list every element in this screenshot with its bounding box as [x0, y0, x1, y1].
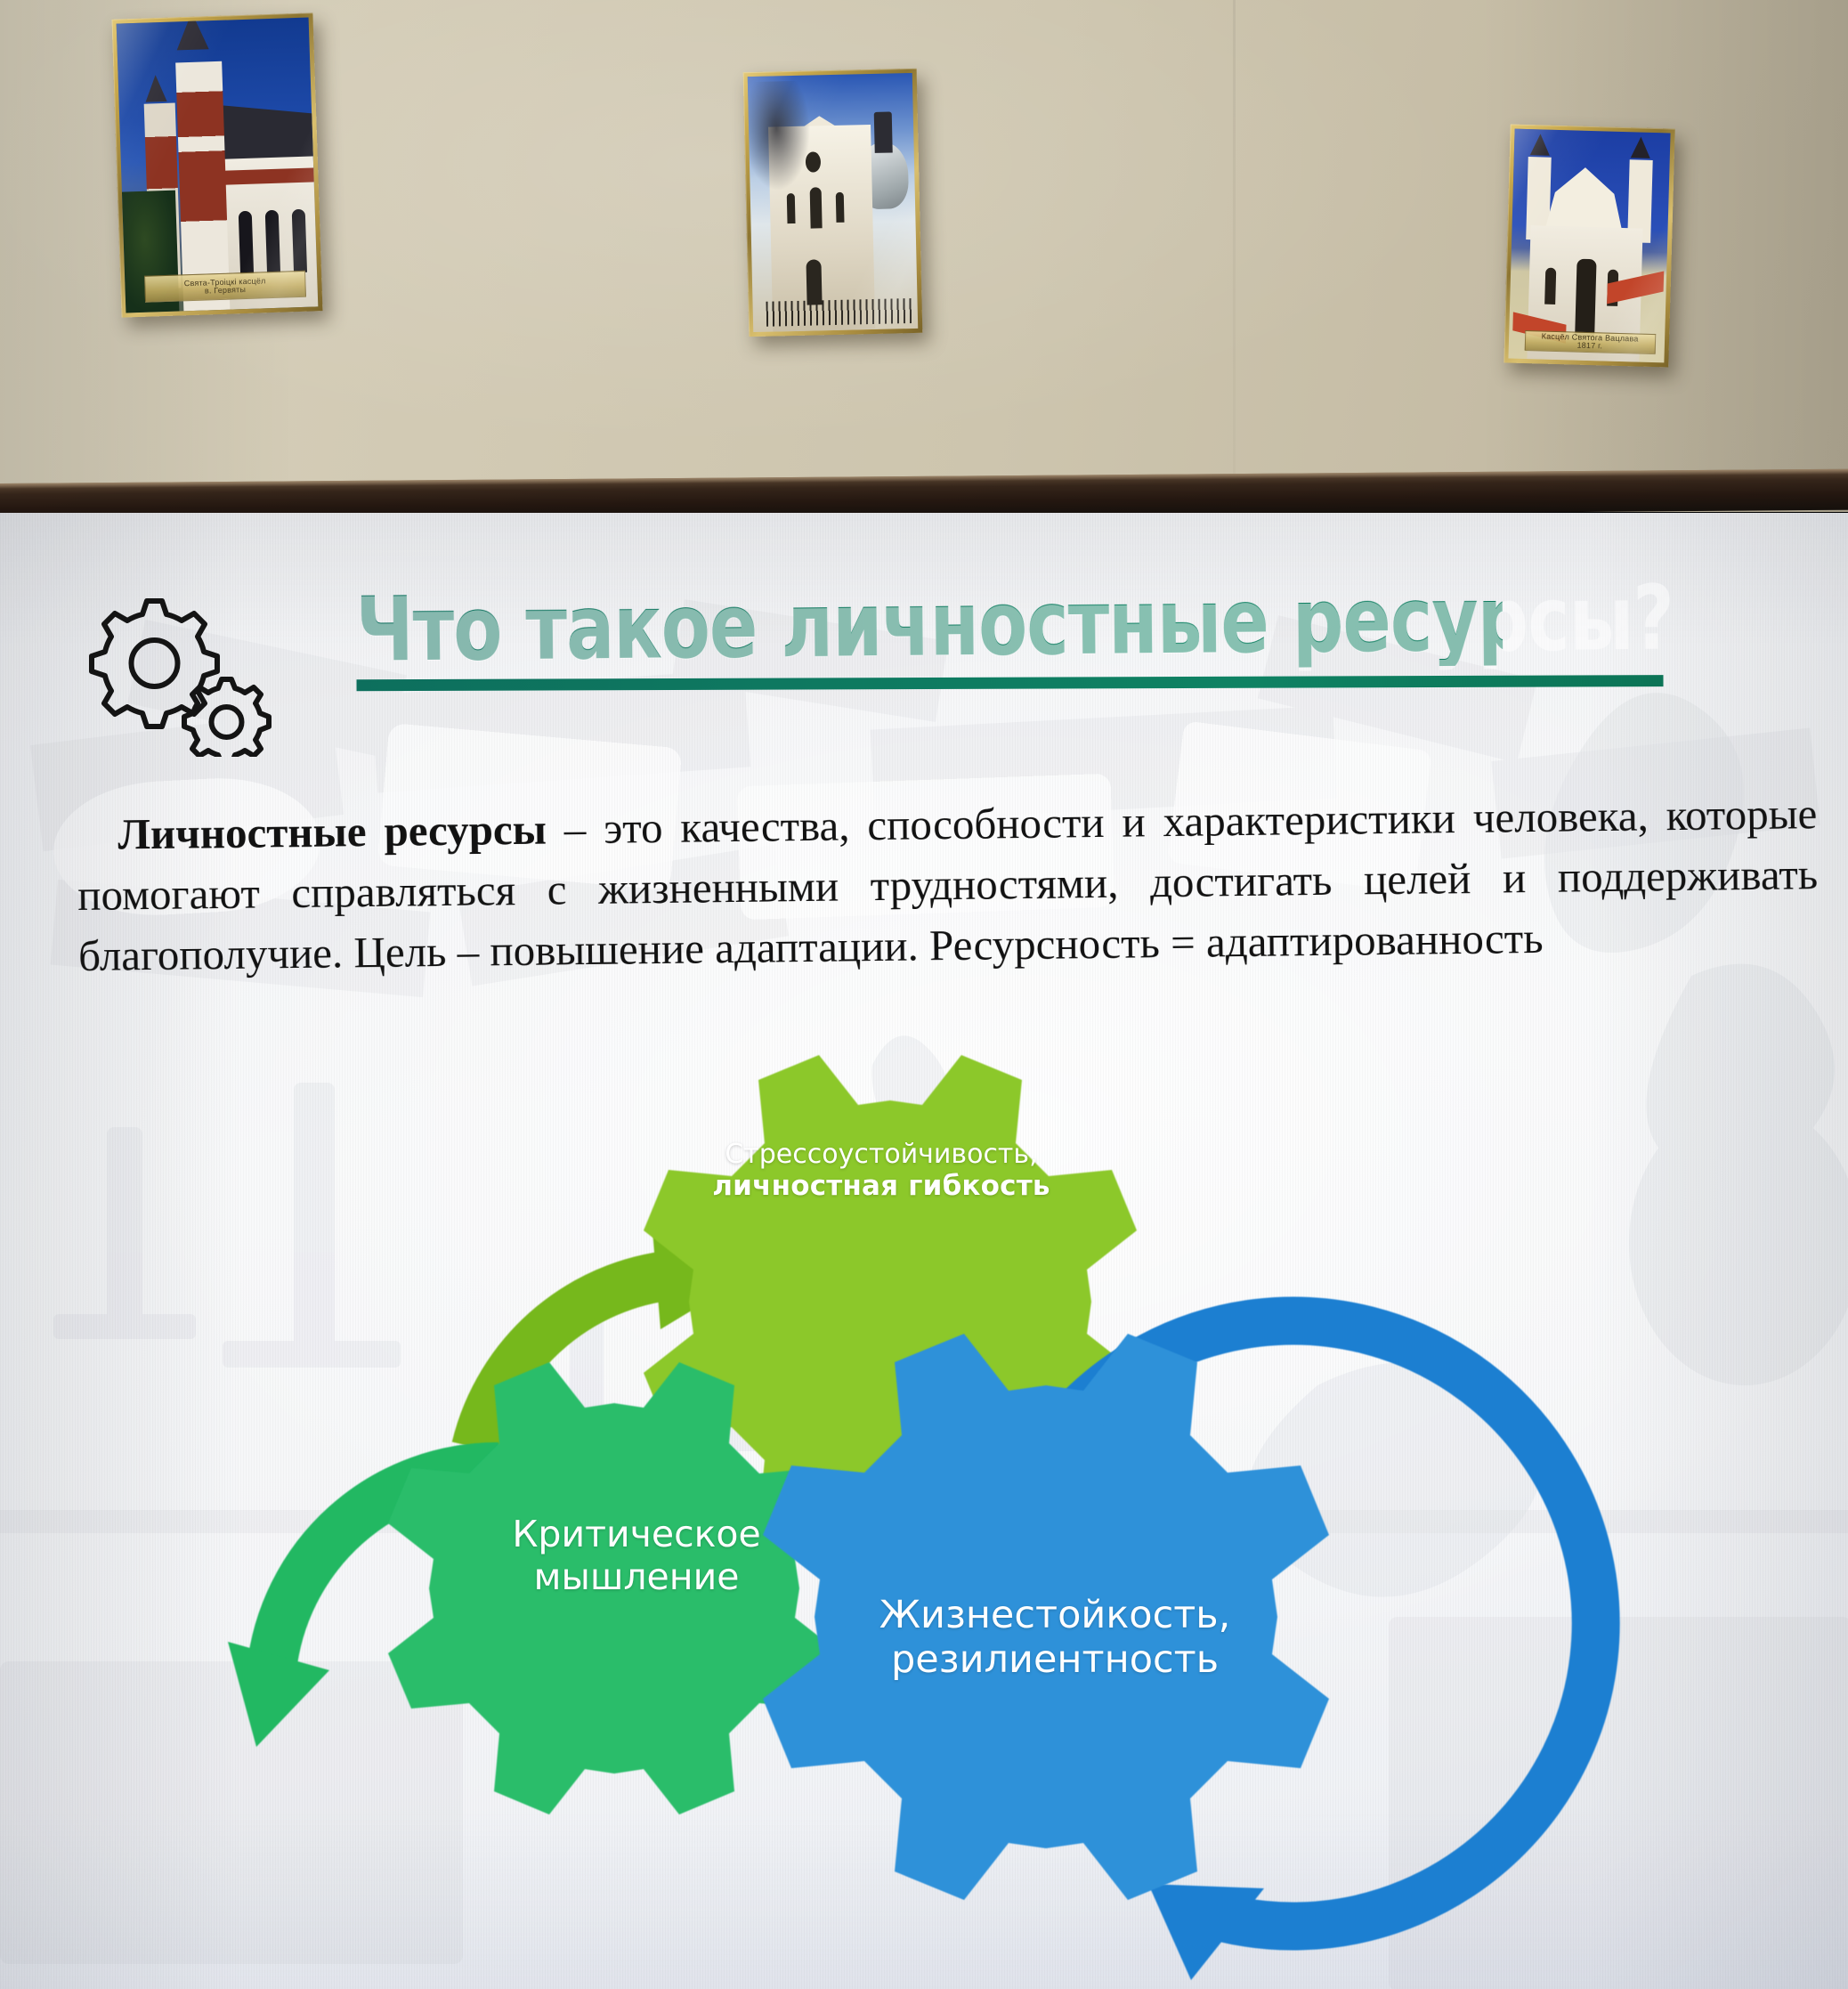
slide-content: Что такое личностные ресурсы? Личностные… — [0, 0, 1848, 1989]
screenshot-root: Свята-Троiцкi касцёл в. Гервяты — [0, 0, 1848, 1989]
gears-diagram — [0, 513, 1848, 1989]
